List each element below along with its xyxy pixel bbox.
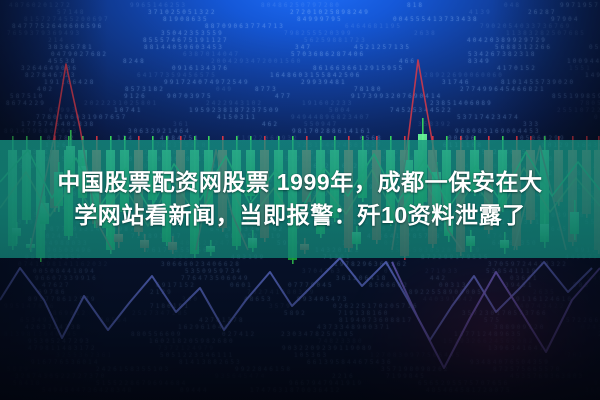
caption-text-block: 中国股票配资网股票 1999年，成都一保安在大 学网站看新闻，当即报警：歼10资… (0, 140, 600, 258)
caption-line-2: 学网站看新闻，当即报警：歼10资料泄露了 (74, 202, 526, 229)
caption-line-1: 中国股票配资网股票 1999年，成都一保安在大 (57, 169, 542, 196)
banner-image: 4876020127299651462538048625079728081804… (0, 0, 600, 400)
